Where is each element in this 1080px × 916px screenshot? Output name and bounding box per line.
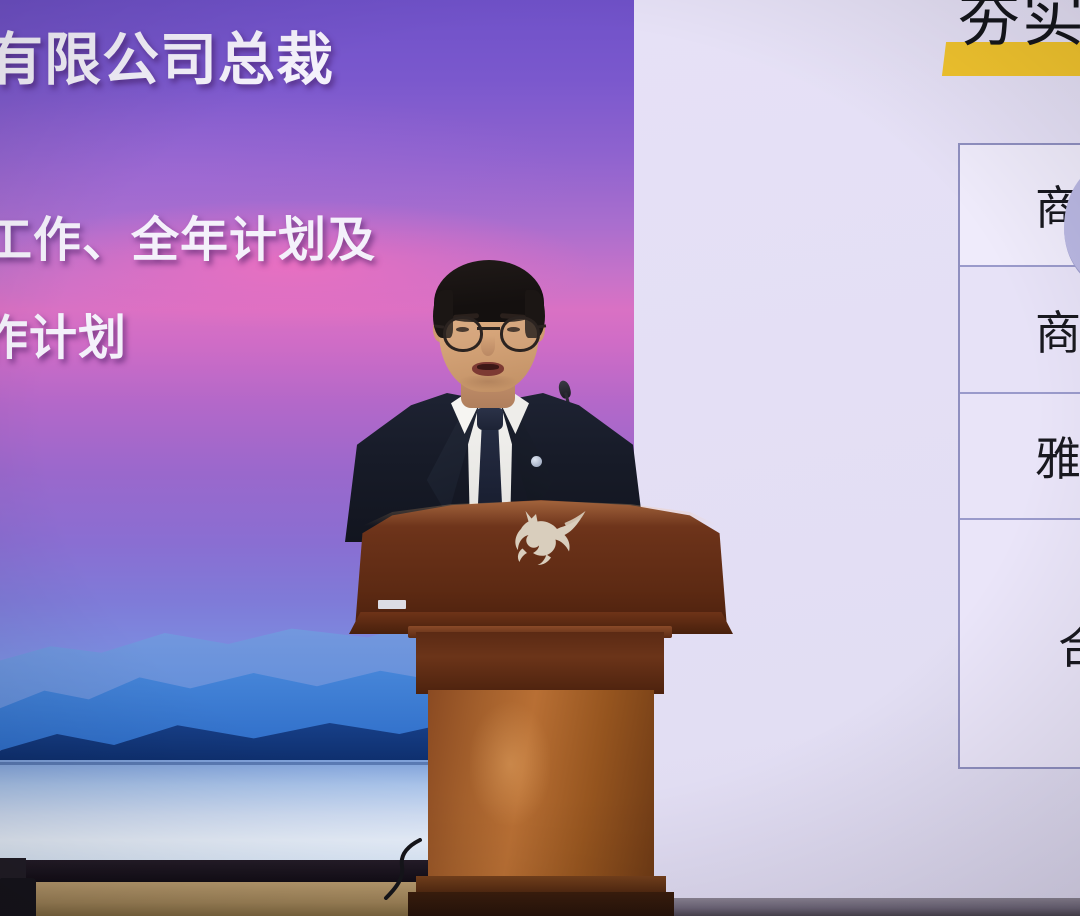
eyeglass-bridge [477, 327, 500, 330]
slide-left-line-1: 有限公司总裁 [0, 14, 334, 96]
power-cable [378, 838, 424, 900]
chin-shadow [459, 376, 517, 390]
nose [481, 336, 495, 356]
podium-plinth [408, 892, 674, 916]
podium-neck [416, 632, 664, 694]
podium-column-highlight [470, 700, 550, 860]
table-row: 雅公 [960, 394, 1080, 520]
eyeglass-lens-left [443, 316, 483, 352]
table-row: 商务 [960, 267, 1080, 394]
slide-right-title: 夯实 [958, 0, 1080, 51]
table-row: 商务 [960, 145, 1080, 267]
winged-qilin-emblem [500, 505, 590, 571]
slide-left-line-3: 作计划 [0, 298, 127, 368]
screenshot-root: 夯实 类 商务 商务 雅公 合 有限公司总裁 工作、全年计划及 作计划 [0, 0, 1080, 916]
podium-face-label [378, 600, 406, 609]
slide-left-line-2: 工作、全年计划及 [0, 200, 376, 270]
lapel-pin [531, 456, 542, 467]
presenter [335, 250, 655, 540]
mouth-interior [477, 364, 499, 370]
stage-equipment-box-lower [0, 878, 36, 916]
eyeglass-lens-right [500, 316, 540, 352]
right-wall-floor-edge [633, 898, 1080, 916]
slide-right-table: 类 商务 商务 雅公 合 [958, 143, 1080, 769]
table-row: 合 [960, 520, 1080, 767]
necktie-knot [477, 408, 503, 430]
